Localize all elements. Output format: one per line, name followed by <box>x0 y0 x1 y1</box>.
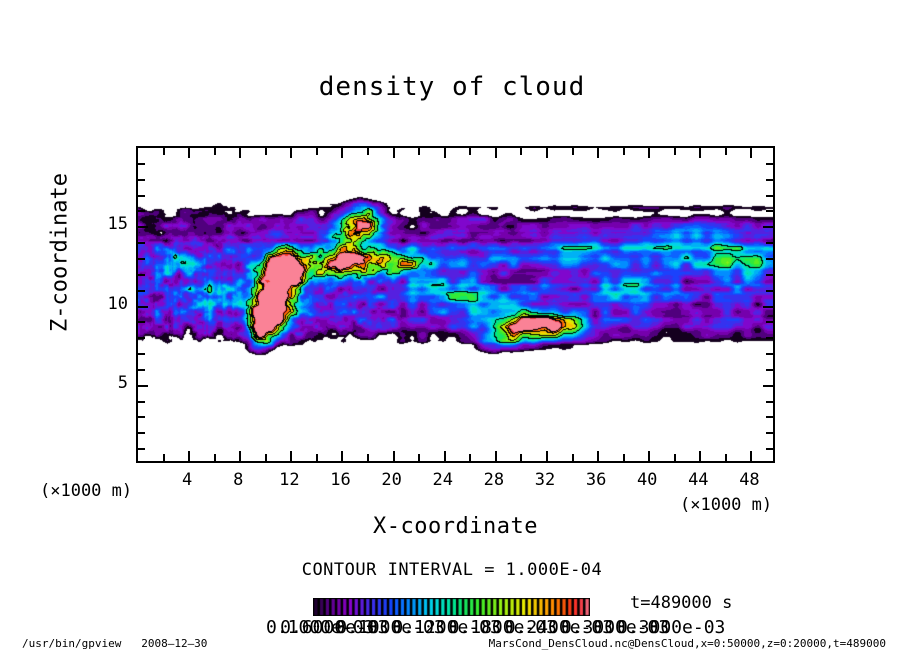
axis-tick <box>341 451 343 462</box>
axis-tick <box>766 163 774 165</box>
axis-tick <box>699 451 701 462</box>
axis-tick <box>163 147 165 155</box>
axis-tick <box>648 147 650 158</box>
axis-tick <box>137 385 148 387</box>
axis-tick <box>546 451 548 462</box>
axis-tick <box>137 258 145 260</box>
axis-tick <box>137 226 148 228</box>
axis-tick <box>623 147 625 155</box>
axis-tick <box>520 147 522 155</box>
axis-tick <box>648 451 650 462</box>
axis-tick <box>137 401 145 403</box>
x-axis-unit-left: (×1000 m) <box>40 481 132 501</box>
footer-dataset: MarsCond_DensCloud.nc@DensCloud,x=0:5000… <box>489 637 886 650</box>
axis-tick <box>418 454 420 462</box>
axis-tick <box>316 454 318 462</box>
axis-tick <box>766 401 774 403</box>
footer-command: /usr/bin/gpview 2008–12–30 <box>22 637 207 650</box>
axis-tick <box>137 290 145 292</box>
axis-tick <box>137 416 145 418</box>
axis-tick <box>367 147 369 155</box>
axis-tick <box>137 242 145 244</box>
axis-tick <box>393 147 395 158</box>
axis-tick <box>763 385 774 387</box>
y-tick-label: 15 <box>82 214 128 234</box>
axis-tick <box>766 210 774 212</box>
contour-field <box>138 148 773 461</box>
axis-tick <box>137 353 145 355</box>
axis-tick <box>495 147 497 158</box>
axis-tick <box>316 147 318 155</box>
axis-tick <box>763 306 774 308</box>
axis-tick <box>239 147 241 158</box>
x-tick-label: 28 <box>472 470 516 490</box>
time-label: t=489000 s <box>630 593 732 613</box>
axis-tick <box>341 147 343 158</box>
axis-tick <box>763 226 774 228</box>
y-axis-title: Z-coordinate <box>48 133 73 373</box>
axis-tick <box>766 432 774 434</box>
axis-tick <box>137 179 145 181</box>
axis-tick <box>137 432 145 434</box>
axis-tick <box>750 451 752 462</box>
axis-tick <box>725 147 727 155</box>
x-axis-unit-right: (×1000 m) <box>680 495 772 515</box>
axis-tick <box>214 454 216 462</box>
axis-tick <box>725 454 727 462</box>
axis-tick <box>766 242 774 244</box>
axis-tick <box>137 306 148 308</box>
axis-tick <box>520 454 522 462</box>
axis-tick <box>265 147 267 155</box>
colorbar-gradient <box>313 598 590 616</box>
axis-tick <box>766 337 774 339</box>
axis-tick <box>214 147 216 155</box>
plot-frame <box>136 146 775 463</box>
axis-tick <box>766 353 774 355</box>
axis-tick <box>572 147 574 155</box>
x-tick-label: 16 <box>318 470 362 490</box>
axis-tick <box>137 369 145 371</box>
axis-tick <box>444 147 446 158</box>
axis-tick <box>137 210 145 212</box>
axis-tick <box>766 321 774 323</box>
axis-tick <box>137 163 145 165</box>
x-tick-label: 36 <box>574 470 618 490</box>
axis-tick <box>674 147 676 155</box>
x-tick-label: 32 <box>523 470 567 490</box>
axis-tick <box>265 454 267 462</box>
axis-tick <box>766 258 774 260</box>
axis-tick <box>418 147 420 155</box>
axis-tick <box>766 179 774 181</box>
axis-tick <box>163 454 165 462</box>
page-title: density of cloud <box>0 72 904 102</box>
axis-tick <box>239 451 241 462</box>
axis-tick <box>699 147 701 158</box>
axis-tick <box>137 274 145 276</box>
colorbar-tick-labels: 0.1000e-030.6000e-030.1000e-030.1200e-03… <box>0 617 904 639</box>
axis-tick <box>137 195 145 197</box>
axis-tick <box>766 195 774 197</box>
axis-tick <box>766 369 774 371</box>
axis-tick <box>393 451 395 462</box>
colorbar <box>313 598 590 616</box>
axis-tick <box>766 448 774 450</box>
x-tick-label: 12 <box>267 470 311 490</box>
axis-tick <box>188 451 190 462</box>
axis-tick <box>495 451 497 462</box>
x-tick-label: 40 <box>625 470 669 490</box>
x-tick-label: 44 <box>676 470 720 490</box>
axis-tick <box>137 337 145 339</box>
axis-tick <box>597 451 599 462</box>
axis-tick <box>137 321 145 323</box>
axis-tick <box>469 147 471 155</box>
x-tick-label: 48 <box>727 470 771 490</box>
contour-interval-caption: CONTOUR INTERVAL = 1.000E-04 <box>0 560 904 580</box>
y-tick-label: 5 <box>82 373 128 393</box>
x-tick-label: 20 <box>370 470 414 490</box>
axis-tick <box>546 147 548 158</box>
axis-tick <box>290 147 292 158</box>
axis-tick <box>469 454 471 462</box>
axis-tick <box>766 290 774 292</box>
axis-tick <box>766 274 774 276</box>
axis-tick <box>367 454 369 462</box>
axis-tick <box>623 454 625 462</box>
axis-tick <box>674 454 676 462</box>
axis-tick <box>137 448 145 450</box>
axis-tick <box>766 416 774 418</box>
axis-tick <box>597 147 599 158</box>
x-axis-title: X-coordinate <box>136 514 775 539</box>
axis-tick <box>188 147 190 158</box>
colorbar-tick-label: 0.3000e-03 <box>617 617 725 638</box>
y-tick-label: 10 <box>82 294 128 314</box>
axis-tick <box>572 454 574 462</box>
axis-tick <box>750 147 752 158</box>
x-tick-label: 4 <box>165 470 209 490</box>
axis-tick <box>290 451 292 462</box>
axis-tick <box>444 451 446 462</box>
x-tick-label: 8 <box>216 470 260 490</box>
x-tick-label: 24 <box>421 470 465 490</box>
